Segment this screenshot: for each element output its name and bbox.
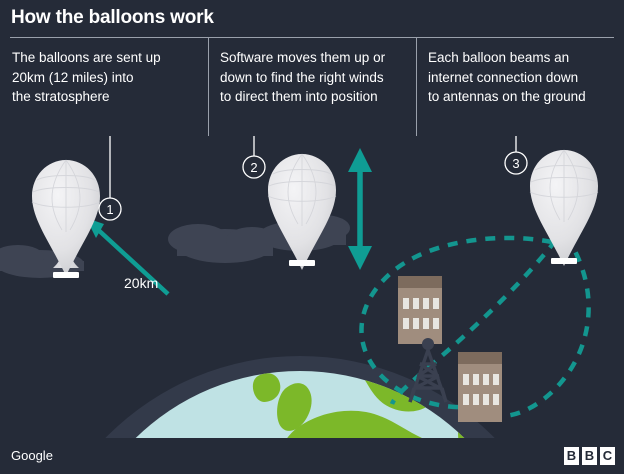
balloon-3-payload [551, 258, 577, 264]
page-title: How the balloons work [0, 7, 214, 29]
bbc-letter-3: C [600, 447, 615, 465]
building-left-roof [398, 276, 442, 288]
illustration-scene: 20km [0, 136, 624, 438]
marker-label-2: 2 [250, 160, 257, 175]
caption-divider-1 [208, 38, 209, 136]
caption-panel-1: The balloons are sent up 20km (12 miles)… [0, 38, 208, 136]
building-left [398, 276, 442, 344]
source-credit: Google [11, 448, 53, 463]
bbc-letter-2: B [582, 447, 597, 465]
caption-strip: The balloons are sent up 20km (12 miles)… [0, 38, 624, 136]
caption-text-2: Software moves them up or down to find t… [220, 48, 404, 107]
footer: Google B B C [0, 438, 624, 474]
building-left-body [398, 288, 442, 344]
marker-label-1: 1 [106, 202, 113, 217]
header: How the balloons work [0, 0, 624, 36]
caption-panel-3: Each balloon beams an internet connectio… [416, 38, 624, 136]
balloon-2-payload [289, 260, 315, 266]
bbc-letter-1: B [564, 447, 579, 465]
balloon-1-payload [53, 272, 79, 278]
caption-text-3: Each balloon beams an internet connectio… [428, 48, 612, 107]
bbc-logo: B B C [564, 447, 615, 465]
caption-panel-2: Software moves them up or down to find t… [208, 38, 416, 136]
building-right [458, 352, 502, 422]
building-right-body [458, 364, 502, 422]
marker-label-3: 3 [512, 156, 519, 171]
tower-antenna-ball [422, 338, 434, 350]
caption-text-1: The balloons are sent up 20km (12 miles)… [12, 48, 196, 107]
building-right-roof [458, 352, 502, 364]
caption-divider-2 [416, 38, 417, 136]
altitude-label: 20km [124, 275, 158, 291]
infographic-root: How the balloons work The balloons are s… [0, 0, 624, 474]
